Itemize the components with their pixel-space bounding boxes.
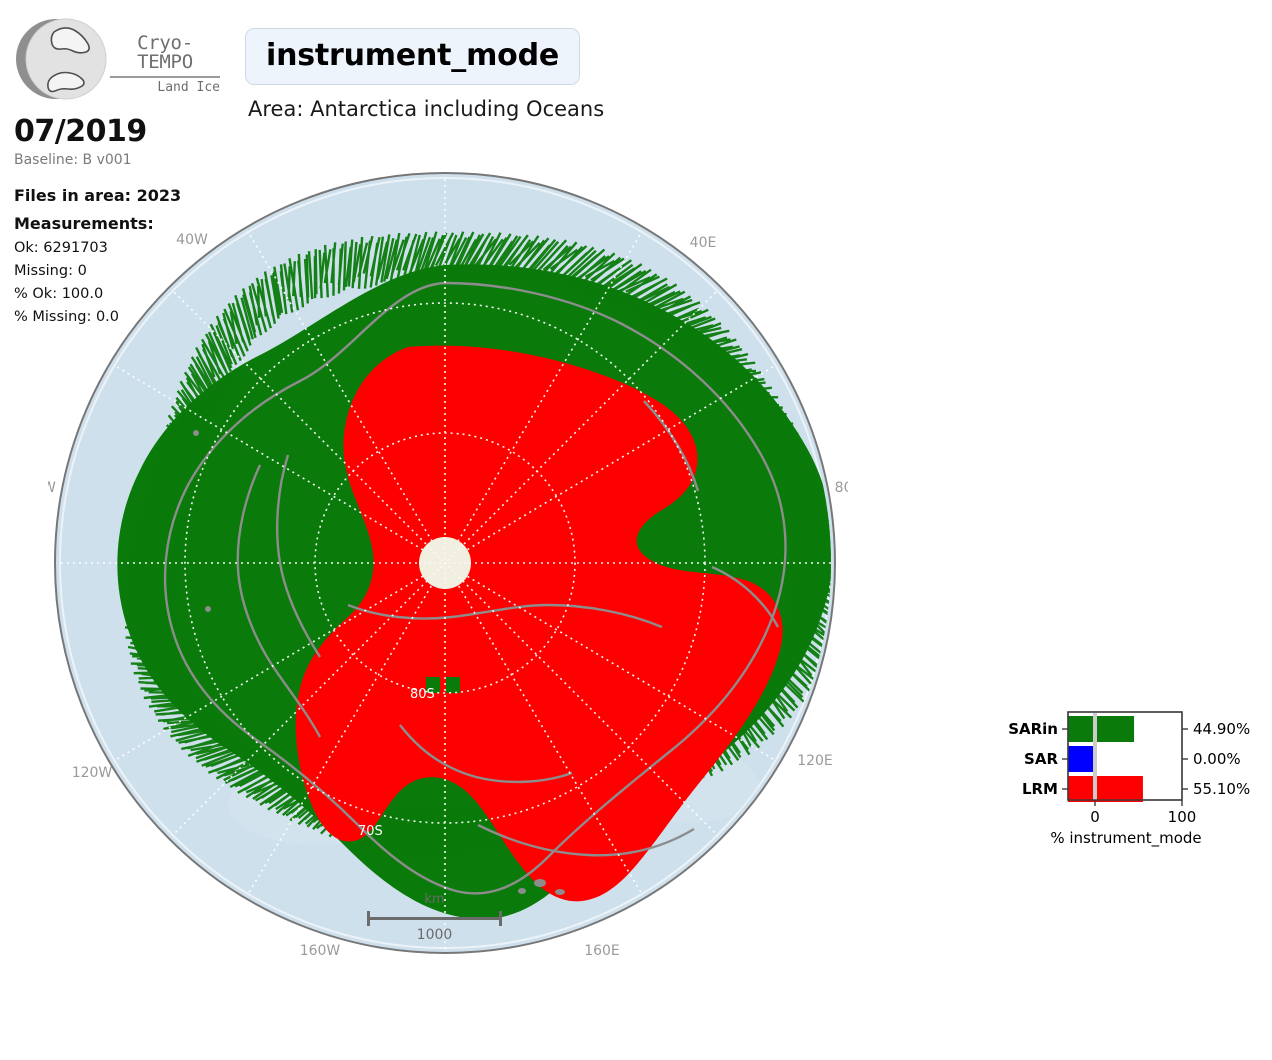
chart-value-lrm: 55.10%	[1193, 780, 1250, 798]
lat-label-70s: 70S	[358, 824, 383, 839]
logo-wordmark: Cryo-TEMPO Land Ice	[110, 34, 220, 94]
variable-title-box: instrument_mode	[245, 28, 580, 85]
polar-map: 80S 70S 0E 40E 80E 120E 160E 160W 120W 8…	[48, 165, 848, 965]
chart-x-axis-label: % instrument_mode	[1050, 829, 1201, 848]
lon-label-80w: 80W	[48, 480, 56, 496]
scalebar-value: 1000	[367, 928, 502, 942]
lon-label-40e: 40E	[690, 235, 717, 251]
chart-cat-sarin: SARin	[1008, 720, 1058, 738]
lon-label-120e: 120E	[797, 753, 833, 769]
variable-title: instrument_mode	[266, 38, 559, 73]
bar-sarin	[1068, 716, 1134, 742]
area-subtitle: Area: Antarctica including Oceans	[248, 97, 604, 121]
scalebar-tick-right	[499, 911, 502, 926]
scalebar-rule	[367, 917, 502, 920]
date-label: 07/2019	[14, 116, 234, 148]
bar-lrm	[1068, 776, 1143, 802]
logo-title: Cryo-TEMPO	[110, 34, 220, 72]
globe-icon	[12, 14, 108, 104]
chart-xtick-0: 0	[1090, 808, 1100, 826]
lon-label-40w: 40W	[176, 232, 208, 248]
chart-cat-sar: SAR	[1024, 750, 1058, 768]
logo-subtitle: Land Ice	[110, 81, 220, 94]
instrument-mode-legend-chart: SARin SAR LRM 44.90% 0.00% 55.10% 0 100 …	[1000, 700, 1260, 850]
cryo-tempo-logo	[12, 14, 108, 104]
logo-divider	[110, 76, 220, 78]
pole-notch-right	[446, 677, 460, 693]
bar-sar	[1068, 746, 1095, 772]
lon-label-160e: 160E	[584, 943, 620, 959]
scalebar-line	[367, 911, 502, 925]
lat-label-80s: 80S	[410, 687, 435, 702]
lon-label-160w: 160W	[300, 943, 341, 959]
lon-label-120w: 120W	[72, 765, 113, 781]
chart-xtick-100: 100	[1168, 808, 1197, 826]
map-scalebar: km 1000	[367, 893, 502, 942]
chart-value-sar: 0.00%	[1193, 750, 1241, 768]
chart-right-ticks	[1182, 729, 1188, 789]
lon-label-80e: 80E	[835, 480, 848, 496]
chart-y-ticks	[1062, 729, 1068, 789]
lon-label-0e: 0E	[436, 165, 454, 167]
chart-value-sarin: 44.90%	[1193, 720, 1250, 738]
scalebar-unit: km	[367, 893, 502, 906]
chart-cat-lrm: LRM	[1022, 780, 1058, 798]
